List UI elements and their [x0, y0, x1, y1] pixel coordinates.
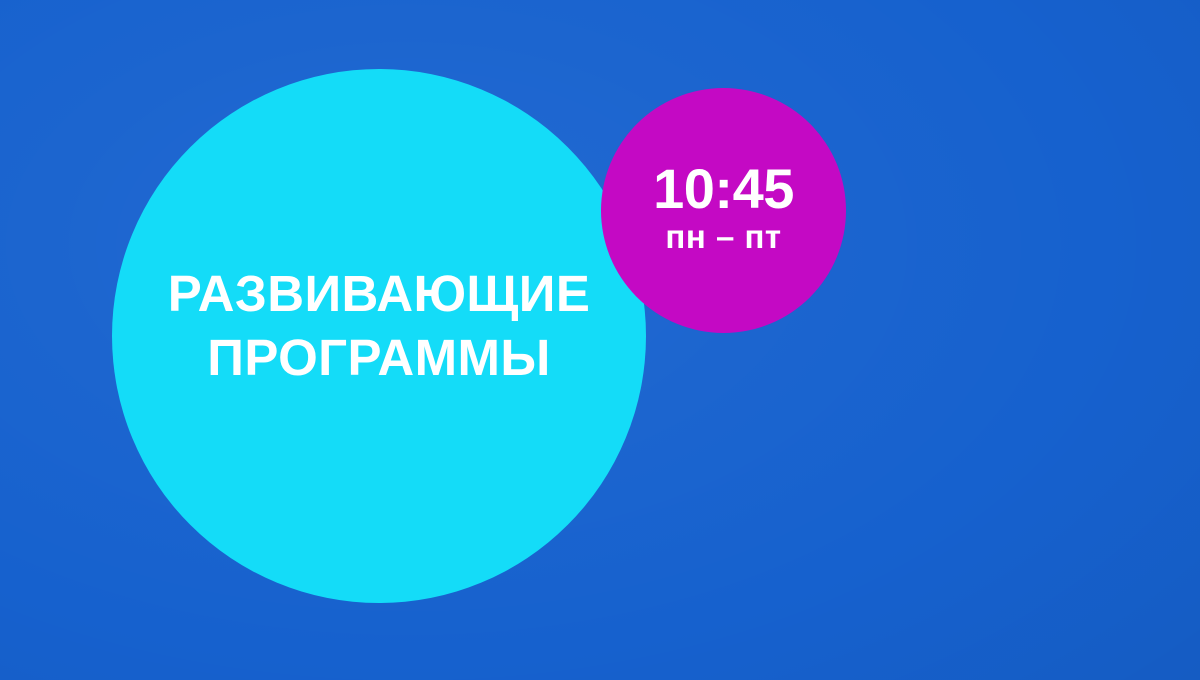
broadcast-days: пн – пт	[601, 218, 846, 256]
broadcast-time: 10:45	[601, 160, 846, 218]
broadcast-bumper-canvas: РАЗВИВАЮЩИЕ ПРОГРАММЫ 10:45 пн – пт	[0, 0, 1200, 680]
programme-title-line-2: ПРОГРАММЫ	[112, 326, 646, 390]
programme-title-line-1: РАЗВИВАЮЩИЕ	[112, 262, 646, 326]
programme-title: РАЗВИВАЮЩИЕ ПРОГРАММЫ	[112, 262, 646, 390]
schedule-badge-text: 10:45 пн – пт	[601, 160, 846, 256]
